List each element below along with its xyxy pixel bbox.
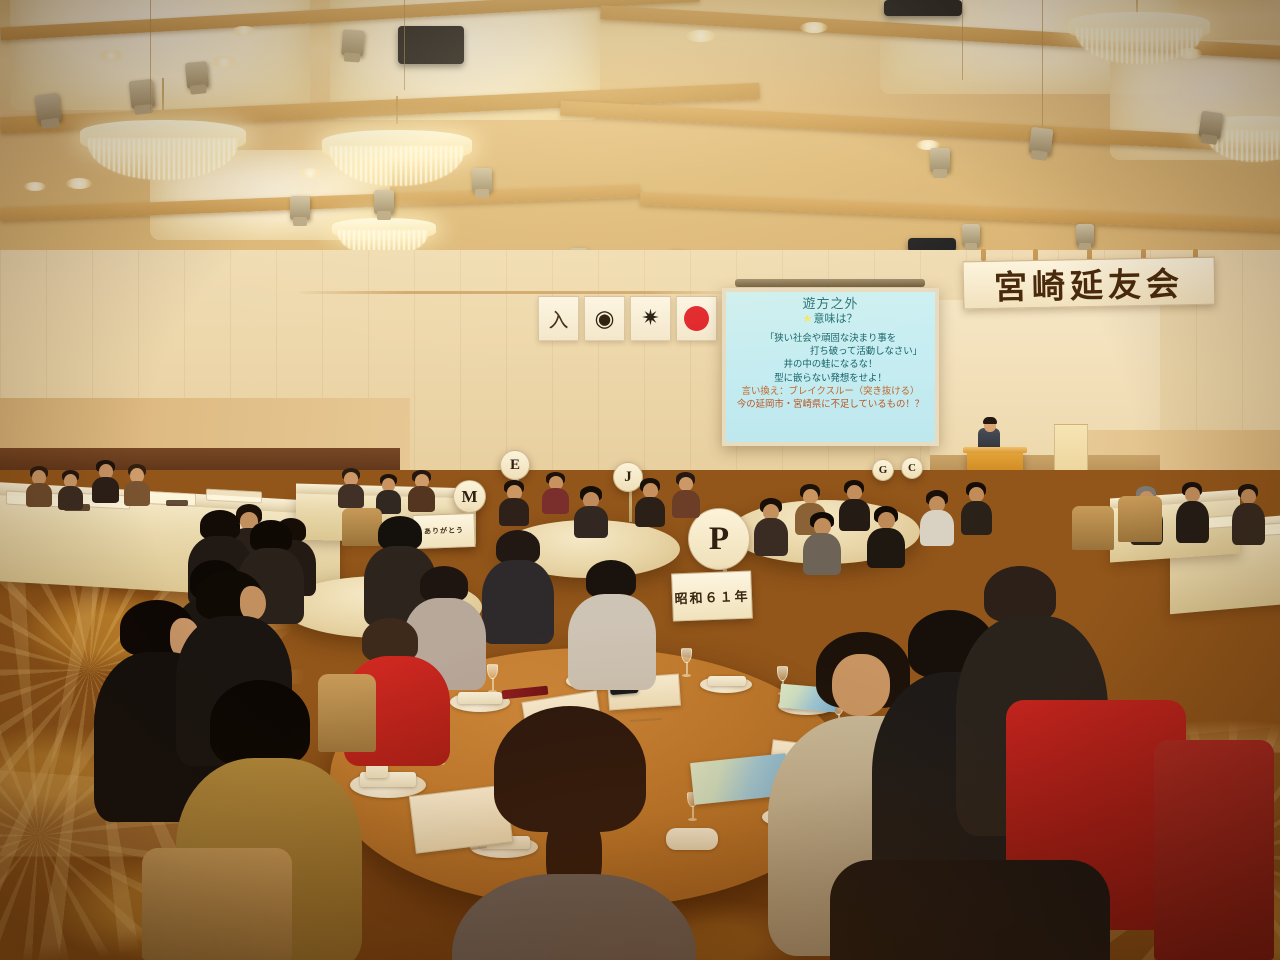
ballroom-scene: 宮崎延友会 入 ◉ ✷ 遊方之外 意味は？ 「狭い社会や頑固な決まり事を 打ち破… (0, 0, 1280, 960)
banquet-chair (142, 848, 292, 960)
ceiling (0, 0, 1280, 290)
slide-body: 「狭い社会や頑固な決まり事を 打ち破って活動しなさい」 井の中の蛙になるな！ 型… (731, 332, 930, 412)
flag-japan-hinomaru-icon (676, 296, 717, 341)
flag-glyph: ◉ (594, 306, 614, 332)
spotlight-fixture (962, 224, 980, 246)
table-sign-letter: M (461, 487, 477, 507)
emblem-flag-crest-icon: ◉ (584, 296, 625, 341)
spotlight-fixture (1198, 111, 1223, 140)
wine-glass (680, 648, 693, 678)
table-sign-card-text: ありがとう (424, 525, 464, 536)
folded-napkin (708, 676, 746, 686)
banquet-chair (342, 508, 382, 546)
podium-top (963, 447, 1027, 453)
chandelier (74, 106, 254, 186)
spotlight-fixture (290, 196, 310, 220)
slide-subtitle-row: 意味は？ (804, 313, 858, 325)
hinomaru-disc (684, 306, 709, 331)
downlight (210, 56, 238, 68)
spotlight-fixture (129, 79, 156, 109)
projector (398, 26, 464, 64)
suspension-wire (404, 0, 405, 90)
spotlight-fixture (1028, 127, 1053, 155)
food-item (166, 500, 188, 506)
flag-glyph: 入 (549, 304, 569, 333)
projection-screen: 遊方之外 意味は？ 「狭い社会や頑固な決まり事を 打ち破って活動しなさい」 井の… (722, 288, 939, 446)
spotlight-fixture (341, 29, 365, 56)
slide-line: 言い換え：ブレイクスルー（突き抜ける） (731, 385, 930, 398)
event-banner: 宮崎延友会 (963, 257, 1216, 310)
flag-rail (300, 291, 730, 294)
emblem-flag-person-icon: 入 (538, 296, 579, 341)
table-sign-g[interactable]: G (872, 459, 894, 481)
slide-line: 「狭い社会や頑固な決まり事を (731, 332, 930, 345)
spotlight-fixture (34, 92, 62, 123)
table-sign-letter: C (908, 462, 916, 474)
emblem-flag-star-icon: ✷ (630, 296, 671, 341)
speaker-hair (983, 417, 997, 424)
projection-screen-roller (735, 279, 925, 287)
banquet-chair (1118, 496, 1162, 542)
downlight (24, 182, 46, 191)
ceiling-projector-box (884, 0, 962, 16)
table-sign-m[interactable]: M (453, 480, 486, 513)
table-sign-year-card[interactable]: 昭和６１年 (671, 570, 753, 621)
table-sign-letter: J (624, 469, 632, 486)
table-sign-year-text: 昭和６１年 (674, 585, 750, 607)
flag-glyph: ✷ (641, 306, 659, 331)
presentation-slide: 遊方之外 意味は？ 「狭い社会や頑固な決まり事を 打ち破って活動しなさい」 井の… (726, 292, 935, 442)
table-sign-c[interactable]: C (901, 457, 923, 479)
spotlight-fixture (1076, 224, 1094, 246)
table-sign-letter: P (709, 521, 729, 558)
suspension-wire (150, 0, 151, 110)
spotlight-fixture (930, 148, 950, 172)
slide-title: 遊方之外 (802, 298, 858, 312)
downlight (686, 30, 716, 42)
downlight (98, 50, 124, 61)
wine-glass (486, 664, 499, 694)
slide-line: 打ち破って活動しなさい」 (731, 345, 930, 358)
chandelier (1064, 6, 1214, 78)
table-sign-letter: E (510, 457, 520, 474)
table-sign-e[interactable]: E (500, 450, 530, 480)
event-banner-text: 宮崎延友会 (994, 257, 1185, 309)
table-sign-j[interactable]: J (613, 462, 643, 492)
downlight (232, 26, 256, 36)
spotlight-fixture (374, 190, 394, 214)
coat-on-chair (1154, 740, 1274, 960)
slide-line: 型に嵌らない発想をせよ！ (731, 372, 930, 385)
star-bullet-icon (804, 315, 812, 323)
suspension-wire (962, 0, 963, 80)
chandelier (318, 118, 478, 194)
slide-line: 井の中の蛙になるな！ (731, 358, 930, 371)
downlight (800, 22, 828, 33)
table-sign-letter: G (879, 464, 888, 476)
napkin-ring (666, 828, 718, 850)
banquet-chair (318, 674, 376, 752)
slide-line: 今の延岡市・宮崎県に不足しているもの！？ (731, 398, 930, 411)
ceiling-beam (640, 192, 1280, 233)
suspension-wire (1042, 0, 1043, 126)
spotlight-fixture (185, 61, 209, 89)
spotlight-fixture (472, 168, 492, 192)
slide-subtitle: 意味は？ (814, 313, 858, 325)
banquet-chair (1072, 506, 1114, 550)
